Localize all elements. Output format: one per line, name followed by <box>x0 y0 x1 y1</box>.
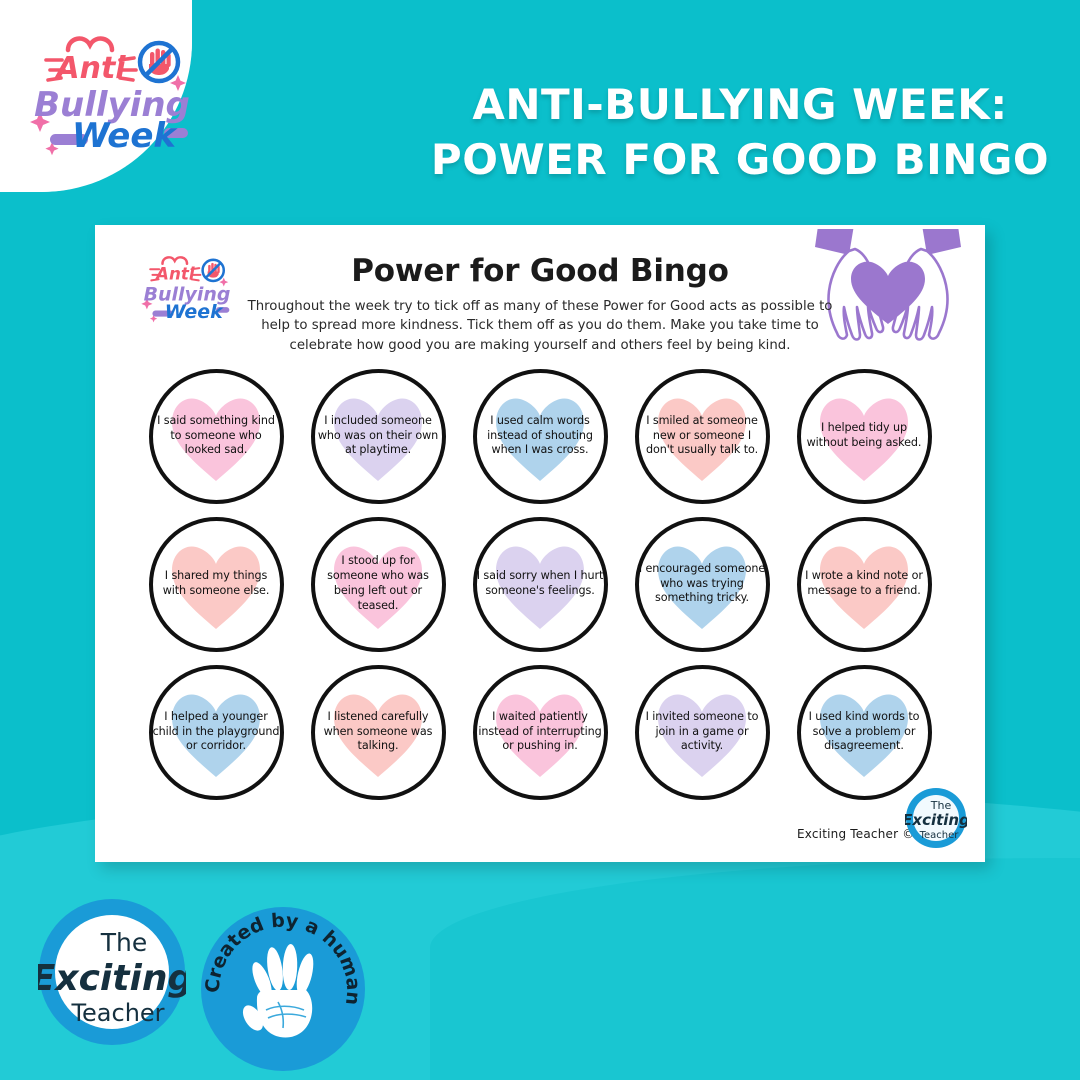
bingo-circle[interactable]: I invited someone to join in a game or a… <box>635 665 770 800</box>
bingo-cell[interactable]: I stood up for someone who was being lef… <box>297 510 459 658</box>
bingo-circle[interactable]: I wrote a kind note or message to a frie… <box>797 517 932 652</box>
svg-text:Teacher: Teacher <box>919 830 960 841</box>
svg-text:The: The <box>100 928 148 957</box>
bingo-circle[interactable]: I helped a younger child in the playgrou… <box>149 665 284 800</box>
bingo-circle[interactable]: I encouraged someone who was trying some… <box>635 517 770 652</box>
bingo-cell[interactable]: I included someone who was on their own … <box>297 362 459 510</box>
svg-text:Week: Week <box>72 116 178 156</box>
bingo-cell-text: I helped tidy up without being asked. <box>801 421 928 451</box>
bingo-cell-text: I waited patiently instead of interrupti… <box>477 710 604 754</box>
worksheet-card: Anti Bullying Week <box>95 225 985 862</box>
bingo-cell[interactable]: I encouraged someone who was trying some… <box>621 510 783 658</box>
bingo-cell-text: I said sorry when I hurt someone's feeli… <box>477 569 604 599</box>
bingo-circle[interactable]: I helped tidy up without being asked. <box>797 369 932 504</box>
svg-text:Exciting: Exciting <box>38 958 186 999</box>
bingo-cell-text: I included someone who was on their own … <box>315 414 442 458</box>
bingo-cell-text: I encouraged someone who was trying some… <box>639 562 766 606</box>
bingo-cell[interactable]: I invited someone to join in a game or a… <box>621 658 783 806</box>
exciting-teacher-stamp-small: The Exciting Teacher <box>905 787 967 849</box>
bingo-circle[interactable]: I smiled at someone new or someone I don… <box>635 369 770 504</box>
svg-text:Anti: Anti <box>54 51 126 86</box>
bingo-cell-text: I shared my things with someone else. <box>153 569 280 599</box>
bingo-cell-text: I wrote a kind note or message to a frie… <box>801 569 928 599</box>
poster-title-line2: Power for Good Bingo <box>430 133 1050 188</box>
bingo-circle[interactable]: I used kind words to solve a problem or … <box>797 665 932 800</box>
poster-canvas: Anti Bullying Week Anti-Bullying Week: P… <box>0 0 1080 1080</box>
exciting-teacher-badge: The Exciting Teacher <box>38 898 186 1046</box>
anti-bullying-week-logo: Anti Bullying Week <box>28 20 196 160</box>
bingo-cell[interactable]: I used calm words instead of shouting wh… <box>459 362 621 510</box>
worksheet-title: Power for Good Bingo <box>95 253 985 289</box>
background-wave-decoration-secondary <box>430 858 1080 1080</box>
worksheet-instructions: Throughout the week try to tick off as m… <box>245 297 835 355</box>
bingo-cell-text: I stood up for someone who was being lef… <box>315 554 442 613</box>
bingo-cell[interactable]: I helped a younger child in the playgrou… <box>135 658 297 806</box>
poster-title: Anti-Bullying Week: Power for Good Bingo <box>430 78 1050 187</box>
bingo-cell[interactable]: I said something kind to someone who loo… <box>135 362 297 510</box>
bingo-circle[interactable]: I said sorry when I hurt someone's feeli… <box>473 517 608 652</box>
bingo-cell[interactable]: I said sorry when I hurt someone's feeli… <box>459 510 621 658</box>
svg-text:Teacher: Teacher <box>70 999 164 1027</box>
bingo-circle[interactable]: I shared my things with someone else. <box>149 517 284 652</box>
bingo-cell[interactable]: I helped tidy up without being asked. <box>783 362 945 510</box>
bingo-cell[interactable]: I wrote a kind note or message to a frie… <box>783 510 945 658</box>
bingo-circle[interactable]: I listened carefully when someone was ta… <box>311 665 446 800</box>
bingo-circle[interactable]: I waited patiently instead of interrupti… <box>473 665 608 800</box>
created-by-human-badge: Created by a human! <box>200 906 366 1072</box>
bingo-cell-text: I used kind words to solve a problem or … <box>801 710 928 754</box>
bingo-circle[interactable]: I said something kind to someone who loo… <box>149 369 284 504</box>
bingo-cell-text: I invited someone to join in a game or a… <box>639 710 766 754</box>
bingo-cell[interactable]: I shared my things with someone else. <box>135 510 297 658</box>
bingo-grid: I said something kind to someone who loo… <box>135 362 945 806</box>
poster-title-line1: Anti-Bullying Week: <box>472 80 1007 129</box>
bingo-cell-text: I said something kind to someone who loo… <box>153 414 280 458</box>
bingo-cell-text: I smiled at someone new or someone I don… <box>639 414 766 458</box>
bingo-cell[interactable]: I listened carefully when someone was ta… <box>297 658 459 806</box>
svg-text:Week: Week <box>165 301 224 323</box>
bingo-cell-text: I listened carefully when someone was ta… <box>315 710 442 754</box>
bingo-cell[interactable]: I waited patiently instead of interrupti… <box>459 658 621 806</box>
bingo-cell[interactable]: I used kind words to solve a problem or … <box>783 658 945 806</box>
bingo-cell-text: I used calm words instead of shouting wh… <box>477 414 604 458</box>
bingo-cell-text: I helped a younger child in the playgrou… <box>153 710 280 754</box>
svg-text:Exciting: Exciting <box>905 811 967 829</box>
bingo-cell[interactable]: I smiled at someone new or someone I don… <box>621 362 783 510</box>
bingo-circle[interactable]: I used calm words instead of shouting wh… <box>473 369 608 504</box>
bingo-circle[interactable]: I stood up for someone who was being lef… <box>311 517 446 652</box>
bingo-circle[interactable]: I included someone who was on their own … <box>311 369 446 504</box>
